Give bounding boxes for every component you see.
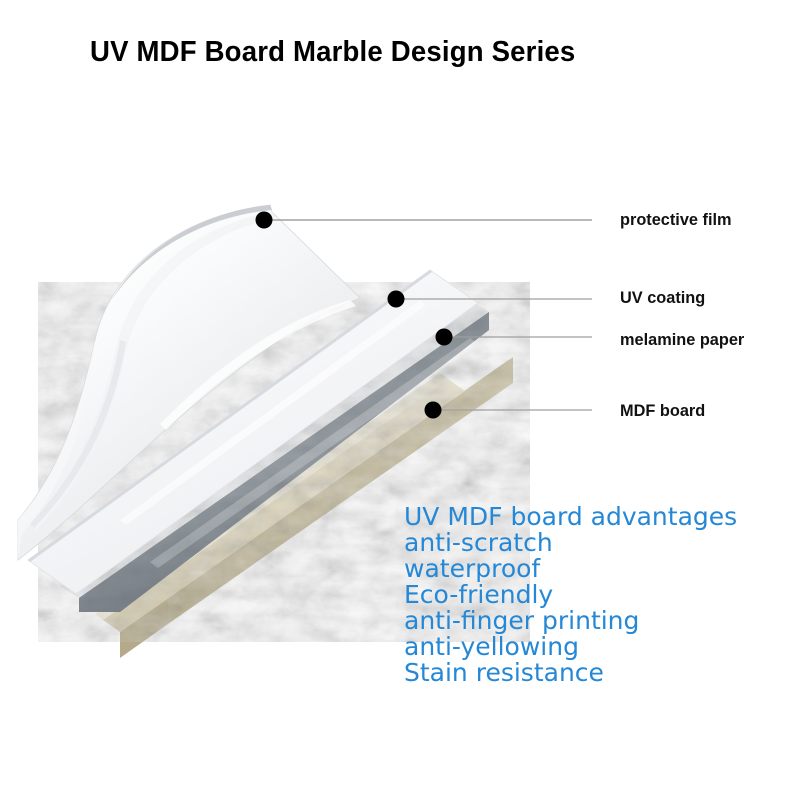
label-protective-film: protective film [620, 210, 732, 230]
leader-dot-melamine-paper [436, 329, 453, 346]
label-uv-coating: UV coating [620, 288, 705, 308]
leader-dot-protective-film [256, 212, 273, 229]
advantage-item-anti-finger-printing: anti-finger printing [404, 608, 737, 634]
leader-dot-mdf-board [425, 402, 442, 419]
advantages-text-block: UV MDF board advantages anti-scratch wat… [404, 504, 737, 686]
advantage-item-stain-resistance: Stain resistance [404, 660, 737, 686]
label-mdf-board: MDF board [620, 401, 705, 421]
label-melamine-paper: melamine paper [620, 330, 744, 350]
leader-dot-uv-coating [388, 291, 405, 308]
advantage-item-waterproof: waterproof [404, 556, 737, 582]
advantages-heading: UV MDF board advantages [404, 504, 737, 530]
leader-protective-film [256, 212, 593, 229]
advantage-item-eco-friendly: Eco-friendly [404, 582, 737, 608]
advantage-item-anti-yellowing: anti-yellowing [404, 634, 737, 660]
advantage-item-anti-scratch: anti-scratch [404, 530, 737, 556]
product-infographic-page: UV MDF Board Marble Design Series [0, 0, 800, 800]
